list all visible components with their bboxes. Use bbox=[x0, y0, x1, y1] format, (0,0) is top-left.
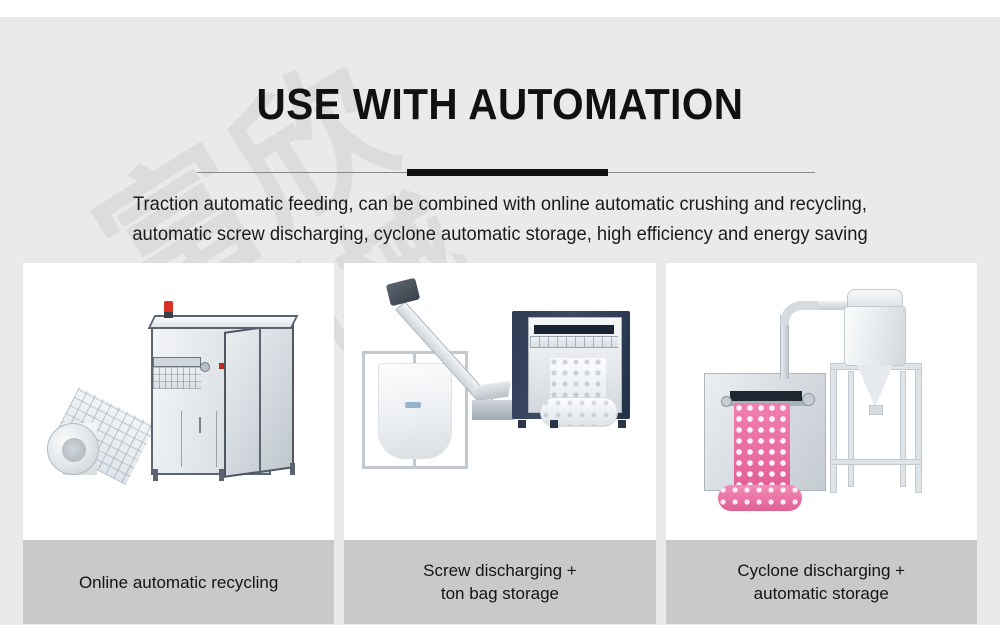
machine-legs bbox=[153, 469, 295, 481]
product-photo-online-recycling bbox=[23, 263, 334, 540]
panel-caption: Screw discharging + ton bag storage bbox=[344, 540, 655, 624]
pink-bubble-film-sheet bbox=[734, 403, 790, 487]
page-title: USE WITH AUTOMATION bbox=[40, 83, 960, 127]
subtitle-line-1: Traction automatic feeding, can be combi… bbox=[30, 189, 970, 219]
cyclone-lid bbox=[847, 289, 903, 307]
cyclone-outlet bbox=[869, 405, 883, 415]
page-subtitle: Traction automatic feeding, can be combi… bbox=[30, 189, 970, 249]
panel-caption: Cyclone discharging + automatic storage bbox=[666, 540, 977, 624]
control-indicator bbox=[219, 363, 224, 369]
panel-caption: Online automatic recycling bbox=[23, 540, 334, 624]
title-divider bbox=[197, 169, 815, 177]
machine-slot bbox=[534, 325, 614, 334]
machine-roller-bar bbox=[530, 336, 618, 348]
promo-page: 富欣 机械 USE WITH AUTOMATION Traction autom… bbox=[0, 0, 1000, 634]
machine-legs bbox=[514, 418, 630, 428]
roller-frame bbox=[153, 357, 201, 367]
caption-line-2: automatic storage bbox=[737, 582, 905, 605]
film-roll bbox=[47, 423, 99, 475]
product-panel[interactable]: Cyclone discharging + automatic storage bbox=[666, 263, 977, 624]
cyclone-cone bbox=[857, 365, 893, 407]
roller-knob bbox=[200, 362, 210, 372]
ton-bag bbox=[378, 363, 452, 459]
machine-slot bbox=[730, 391, 802, 401]
product-panel[interactable]: Screw discharging + ton bag storage bbox=[344, 263, 655, 624]
roller-knob-left bbox=[721, 396, 732, 407]
subtitle-line-2: automatic screw discharging, cyclone aut… bbox=[30, 219, 970, 249]
page-canvas: 富欣 机械 USE WITH AUTOMATION Traction autom… bbox=[0, 17, 1000, 625]
red-beacon-light-icon bbox=[164, 301, 173, 312]
roller-mesh bbox=[153, 367, 201, 389]
product-panel[interactable]: Online automatic recycling bbox=[23, 263, 334, 624]
machine-cabinet-panel-divider bbox=[259, 325, 261, 473]
product-panel-grid: Online automatic recycling bbox=[23, 263, 977, 624]
bubble-film-sheet bbox=[550, 358, 606, 400]
divider-accent-bar bbox=[407, 169, 608, 176]
product-photo-screw-discharging bbox=[344, 263, 655, 540]
conveyor-base bbox=[472, 400, 514, 420]
cabinet-door bbox=[181, 411, 217, 467]
caption-line-2: ton bag storage bbox=[423, 582, 577, 605]
cyclone-barrel bbox=[844, 306, 906, 366]
roller-knob-right bbox=[802, 393, 815, 406]
caption-line-1: Screw discharging + bbox=[423, 559, 577, 582]
caption-line-1: Cyclone discharging + bbox=[737, 559, 905, 582]
caption-line-1: Online automatic recycling bbox=[79, 571, 278, 594]
pink-bubble-film-roll bbox=[718, 485, 802, 511]
product-photo-cyclone-storage bbox=[666, 263, 977, 540]
